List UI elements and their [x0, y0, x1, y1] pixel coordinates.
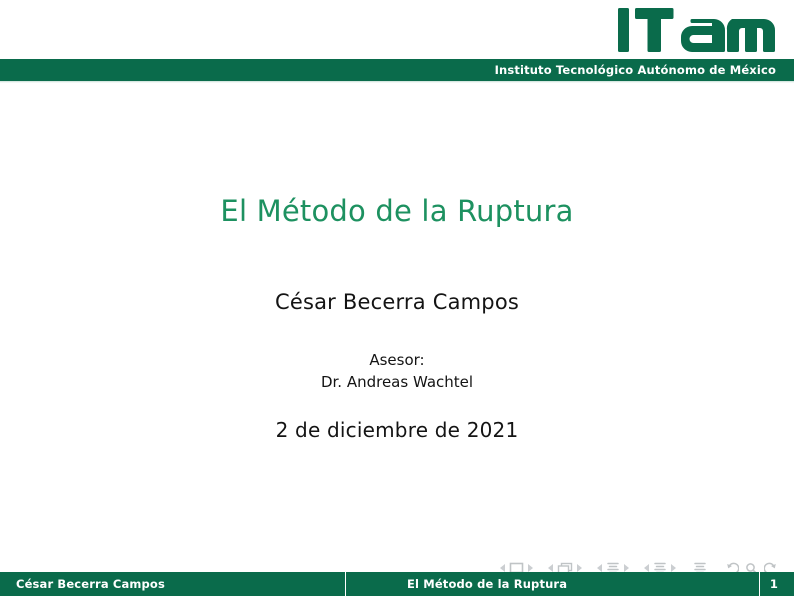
page-title: El Método de la Ruptura — [0, 195, 794, 228]
slide-footer: César Becerra Campos El Método de la Rup… — [0, 572, 794, 596]
presentation-slide: Instituto Tecnológico Autónomo de México… — [0, 0, 794, 596]
advisor-name: Dr. Andreas Wachtel — [0, 372, 794, 394]
advisor-block: Asesor: Dr. Andreas Wachtel — [0, 350, 794, 394]
presentation-date: 2 de diciembre de 2021 — [276, 418, 519, 442]
footer-title: El Método de la Ruptura — [346, 572, 759, 596]
institution-bar-shadow — [0, 81, 794, 83]
title-block: El Método de la Ruptura — [0, 195, 794, 228]
footer-page-number: 1 — [760, 572, 794, 596]
slide-body: El Método de la Ruptura César Becerra Ca… — [0, 85, 794, 545]
author-name: César Becerra Campos — [275, 290, 519, 314]
institution-name: Instituto Tecnológico Autónomo de México — [495, 63, 776, 77]
itam-logo — [616, 6, 776, 54]
advisor-label: Asesor: — [0, 350, 794, 372]
footer-author: César Becerra Campos — [0, 572, 345, 596]
author-block: César Becerra Campos — [0, 290, 794, 314]
date-block: 2 de diciembre de 2021 — [0, 418, 794, 442]
slide-header: Instituto Tecnológico Autónomo de México — [0, 0, 794, 85]
institution-bar: Instituto Tecnológico Autónomo de México — [0, 59, 794, 81]
